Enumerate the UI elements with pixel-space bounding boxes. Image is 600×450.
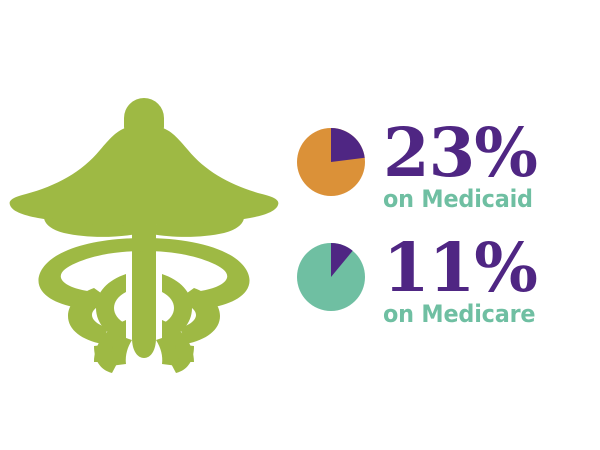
stat-row-medicare: 11% on Medicare [295, 236, 547, 327]
medicaid-pie-chart [295, 126, 367, 198]
medicaid-stat-text: 23% on Medicaid [383, 121, 544, 212]
medicaid-percent-value: 23% [383, 121, 537, 185]
medicare-stat-text: 11% on Medicare [383, 236, 547, 327]
caduceus-icon [8, 88, 280, 373]
medicare-percent-label: on Medicare [383, 302, 535, 327]
medicaid-pie-highlight-slice [331, 128, 365, 162]
medicare-percent-value: 11% [383, 236, 537, 300]
medicare-pie-chart [295, 241, 367, 313]
stat-row-medicaid: 23% on Medicaid [295, 121, 544, 212]
medicaid-percent-label: on Medicaid [383, 187, 533, 212]
infographic-canvas: 23% on Medicaid 11% on Medicare [0, 0, 600, 450]
